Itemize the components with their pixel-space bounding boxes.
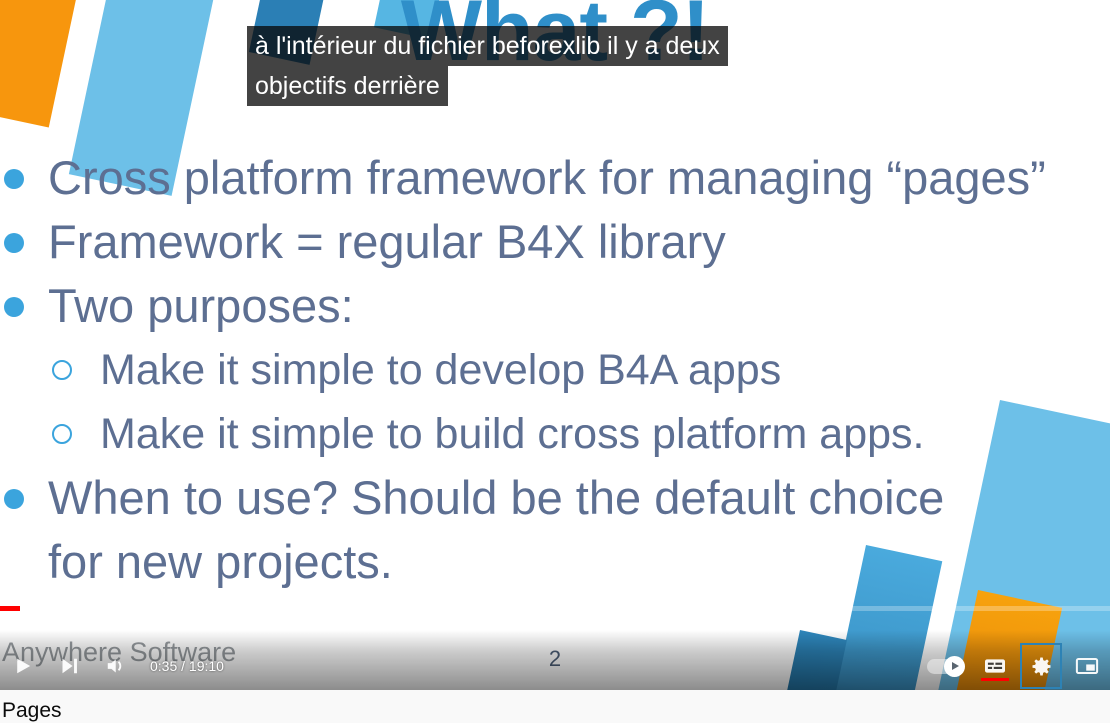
subtitles-button[interactable] <box>972 642 1018 690</box>
slide-bullet-list: Cross platform framework for managing “p… <box>0 146 1110 594</box>
controls-right-group <box>918 642 1110 690</box>
caption-overlay: à l'intérieur du fichier beforexlib il y… <box>247 26 728 106</box>
video-player[interactable]: What ?! Cross platform framework for man… <box>0 0 1110 690</box>
sub-bullet-item: Make it simple to build cross platform a… <box>0 402 1110 466</box>
settings-gear-button[interactable] <box>1018 642 1064 690</box>
bullet-circle-icon <box>52 424 72 444</box>
autoplay-knob-play-icon <box>944 656 965 677</box>
miniplayer-button[interactable] <box>1064 642 1110 690</box>
bullet-dot-icon <box>4 297 24 317</box>
bullet-text: Cross platform framework for managing “p… <box>48 146 1046 210</box>
volume-icon[interactable] <box>92 642 138 690</box>
autoplay-toggle[interactable] <box>918 642 972 690</box>
bullet-dot-icon <box>4 169 24 189</box>
below-heading: Pages <box>2 699 62 723</box>
bullet-item: Framework = regular B4X library <box>0 210 1110 274</box>
bullet-item: Cross platform framework for managing “p… <box>0 146 1110 210</box>
bullet-item: When to use? Should be the default choic… <box>0 466 1110 530</box>
next-video-button[interactable] <box>46 642 92 690</box>
caption-line: à l'intérieur du fichier beforexlib il y… <box>247 26 728 66</box>
bullet-dot-icon <box>4 489 24 509</box>
bullet-text: Two purposes: <box>48 274 354 338</box>
bullet-text: Make it simple to build cross platform a… <box>100 402 925 466</box>
bullet-text: Framework = regular B4X library <box>48 210 726 274</box>
subtitles-active-underline <box>981 678 1009 681</box>
time-display: 0:35 / 19:10 <box>150 658 224 674</box>
bullet-continuation-text: for new projects. <box>0 530 1110 594</box>
bullet-text: When to use? Should be the default choic… <box>48 466 944 530</box>
caption-line: objectifs derrière <box>247 66 448 106</box>
bullet-item: Two purposes: <box>0 274 1110 338</box>
progress-played <box>0 606 20 611</box>
page-below-player: Pages <box>0 690 1110 723</box>
settings-focus-ring <box>1020 643 1062 689</box>
player-controls-bar: 0:35 / 19:10 <box>0 630 1110 690</box>
bullet-text: Make it simple to develop B4A apps <box>100 338 781 402</box>
play-button[interactable] <box>0 642 46 690</box>
progress-bar[interactable] <box>0 606 1110 611</box>
bullet-dot-icon <box>4 233 24 253</box>
bullet-circle-icon <box>52 360 72 380</box>
controls-left-group: 0:35 / 19:10 <box>0 642 224 690</box>
sub-bullet-item: Make it simple to develop B4A apps <box>0 338 1110 402</box>
autoplay-track <box>927 659 963 674</box>
